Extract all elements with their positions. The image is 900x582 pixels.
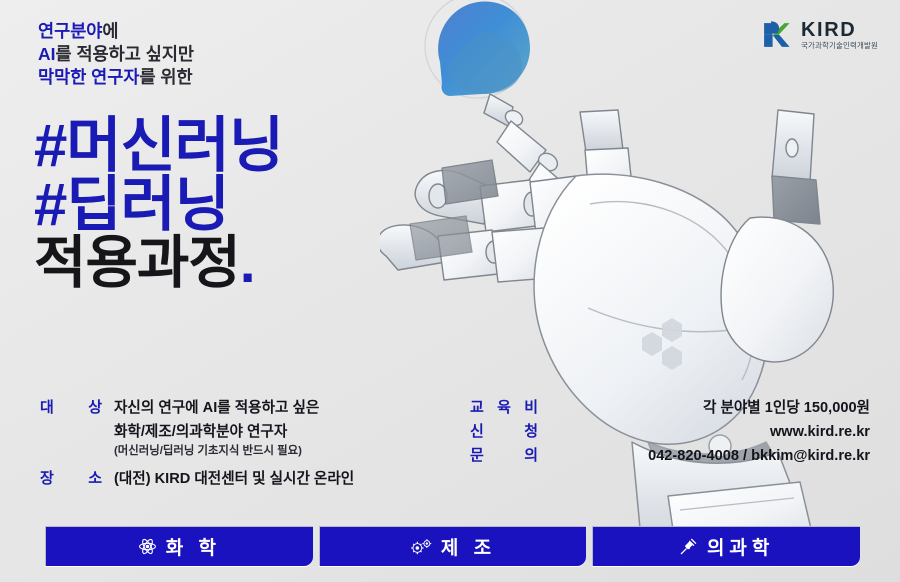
apply-label-char-1: 신: [470, 420, 484, 441]
eyebrow-line-2-plain: 를 적용하고 싶지만: [56, 44, 195, 64]
kird-logo-mark: [759, 18, 793, 52]
info-block-left: 대 상 자신의 연구에 AI를 적용하고 싶은 화학/제조/의과학분야 연구자 …: [40, 396, 470, 491]
eyebrow-line-1-plain: 에: [102, 21, 118, 41]
atom-icon: [138, 537, 157, 556]
headline-period: .: [240, 231, 255, 295]
fee-row: 교 육 비 각 분야별 1인당 150,000원: [470, 396, 870, 417]
info-left-spacer: [40, 458, 470, 467]
headline-hashtag-dl: #딥러닝: [34, 171, 229, 238]
place-label-char-1: 장: [40, 467, 54, 488]
contact-label: 문 의: [470, 444, 538, 465]
logo-name: KIRD: [801, 20, 878, 41]
place-row: 장 소 (대전) KIRD 대전센터 및 실시간 온라인: [40, 467, 470, 488]
contact-label-char-2: 의: [524, 444, 538, 465]
fee-label-char-1: 교: [470, 396, 484, 417]
category-button-bar: 화 학: [45, 526, 860, 566]
place-value: (대전) KIRD 대전센터 및 실시간 온라인: [114, 467, 354, 488]
headline-course-word: 적용과정: [34, 231, 240, 295]
headline-line-2: #딥러닝: [34, 175, 283, 234]
target-value-line-1: 자신의 연구에 AI를 적용하고 싶은: [114, 396, 319, 417]
place-label-char-2: 소: [88, 467, 102, 488]
contact-row: 문 의 042-820-4008 / bkkim@kird.re.kr: [470, 444, 870, 465]
eyebrow-text: 연구분야에 AI를 적용하고 싶지만 막막한 연구자를 위한: [38, 20, 194, 89]
eyebrow-line-1-highlight: 연구분야: [38, 21, 102, 41]
apply-label-char-2: 청: [524, 420, 538, 441]
logo-subtitle: 국가과학기술인력개발원: [801, 42, 878, 50]
eyebrow-line-3-plain: 를 위한: [139, 67, 192, 87]
target-label-char-2: 상: [88, 396, 102, 417]
fee-value: 각 분야별 1인당 150,000원: [538, 396, 870, 417]
category-label-medical-science: 의과학: [707, 533, 774, 560]
category-label-manufacturing: 제 조: [441, 533, 496, 560]
gears-icon: [410, 538, 432, 555]
fee-label: 교 육 비: [470, 396, 538, 417]
promo-poster: KIRD 국가과학기술인력개발원 연구분야에 AI를 적용하고 싶지만 막막한 …: [0, 0, 900, 582]
course-title: #머신러닝 #딥러닝 적용과정.: [34, 116, 283, 291]
contact-value[interactable]: 042-820-4008 / bkkim@kird.re.kr: [538, 448, 870, 464]
apply-row: 신 청 www.kird.re.kr: [470, 420, 870, 441]
target-note: (머신러닝/딥러닝 기초지식 반드시 필요): [114, 442, 470, 458]
category-button-manufacturing[interactable]: 제 조: [319, 526, 587, 566]
target-row: 대 상 자신의 연구에 AI를 적용하고 싶은: [40, 396, 470, 417]
eyebrow-line-3: 막막한 연구자를 위한: [38, 66, 194, 89]
target-label-char-1: 대: [40, 396, 54, 417]
apply-label: 신 청: [470, 420, 538, 441]
headline-line-3: 적용과정.: [34, 235, 283, 291]
headline-hashtag-ml: #머신러닝: [34, 112, 283, 179]
category-button-chemistry[interactable]: 화 학: [45, 526, 313, 566]
fee-label-char-2: 육: [497, 396, 511, 417]
target-value-line-2: 화학/제조/의과학분야 연구자: [114, 420, 470, 441]
category-button-medical-science[interactable]: 의과학: [592, 526, 860, 566]
eyebrow-line-1: 연구분야에: [38, 20, 194, 43]
apply-url[interactable]: www.kird.re.kr: [538, 424, 870, 440]
category-label-chemistry: 화 학: [166, 533, 221, 560]
syringe-icon: [679, 537, 698, 556]
eyebrow-line-2: AI를 적용하고 싶지만: [38, 43, 194, 66]
eyebrow-line-3-highlight: 막막한 연구자: [38, 67, 139, 87]
fee-label-char-3: 비: [524, 396, 538, 417]
info-block-right: 교 육 비 각 분야별 1인당 150,000원 신 청 www.kird.re…: [470, 396, 870, 468]
contact-label-char-1: 문: [470, 444, 484, 465]
place-label: 장 소: [40, 467, 102, 488]
kird-logo: KIRD 국가과학기술인력개발원: [759, 18, 878, 52]
eyebrow-line-2-highlight: AI: [38, 44, 56, 64]
target-label: 대 상: [40, 396, 102, 417]
headline-line-1: #머신러닝: [34, 116, 283, 175]
